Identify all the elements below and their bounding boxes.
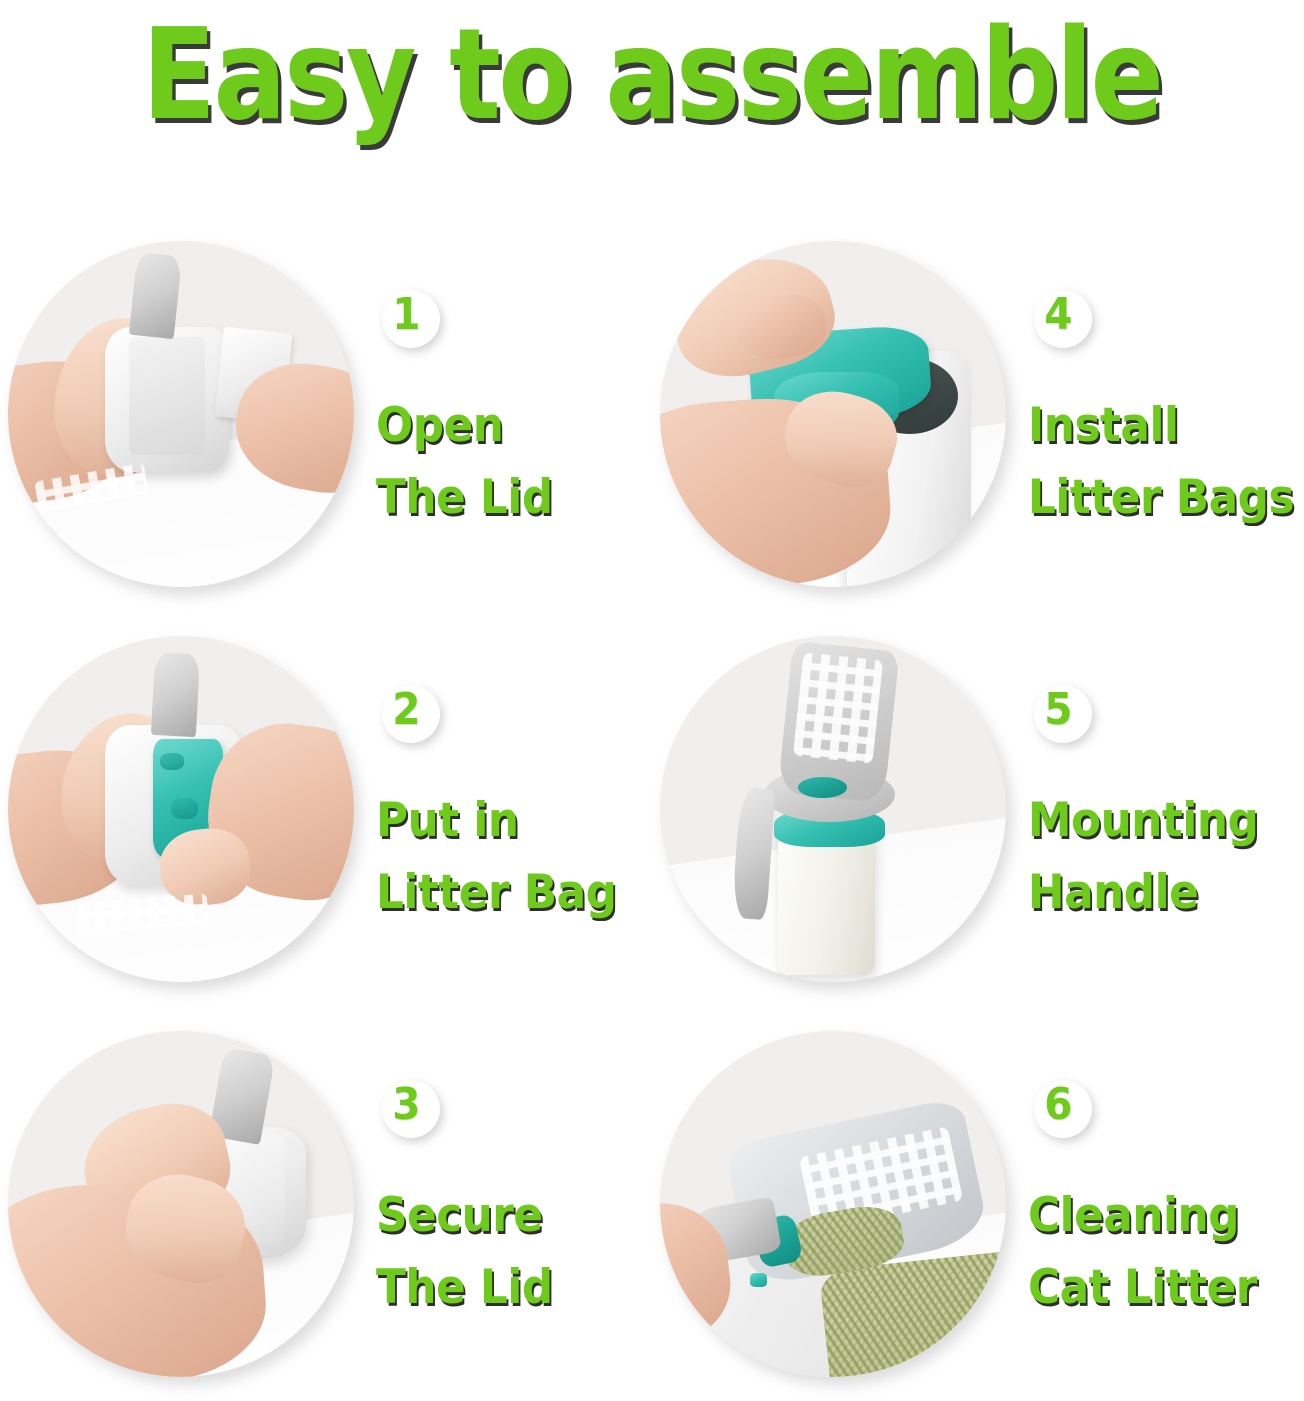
- step-photo-6: [660, 1031, 1006, 1377]
- step-label-3-line1: Secure: [376, 1188, 543, 1243]
- step-number-4: 4: [1044, 293, 1072, 337]
- step-number-2: 2: [392, 688, 420, 732]
- step-number-1: 1: [392, 293, 420, 337]
- step-number-badge-4: 4: [1034, 290, 1092, 348]
- step-number-badge-1: 1: [382, 290, 440, 348]
- step-caption-3: 3 Secure The Lid: [376, 1080, 652, 1327]
- step-caption-6: 6 Cleaning Cat Litter: [1028, 1080, 1304, 1327]
- step-label-6: Cleaning Cat Litter: [1028, 1180, 1257, 1323]
- step-label-5-line2: Handle: [1028, 857, 1258, 928]
- step-label-6-line2: Cat Litter: [1028, 1252, 1257, 1323]
- step-label-5-line1: Mounting: [1028, 793, 1258, 848]
- step-label-3: Secure The Lid: [376, 1180, 553, 1323]
- step-card-6: 6 Cleaning Cat Litter: [652, 1006, 1304, 1401]
- step-label-1-line1: Open: [376, 398, 503, 453]
- step-card-4: 4 Install Litter Bags: [652, 216, 1304, 611]
- step-label-1: Open The Lid: [376, 390, 553, 533]
- step-card-2: 2 Put in Litter Bag: [0, 611, 652, 1006]
- step-label-4-line2: Litter Bags: [1028, 462, 1294, 533]
- page-title-container: Easy to assemble: [0, 0, 1304, 150]
- step-number-3: 3: [392, 1083, 420, 1127]
- step-label-2: Put in Litter Bag: [376, 785, 617, 928]
- step-number-badge-5: 5: [1034, 685, 1092, 743]
- step-number-badge-2: 2: [382, 685, 440, 743]
- step-photo-5: [660, 636, 1006, 982]
- step-caption-2: 2 Put in Litter Bag: [376, 685, 652, 932]
- step-label-6-line1: Cleaning: [1028, 1188, 1239, 1243]
- photo-secure-the-lid-icon: [8, 1031, 354, 1377]
- photo-mounting-handle-icon: [660, 636, 1006, 982]
- step-label-4-line1: Install: [1028, 398, 1179, 453]
- step-photo-2: [8, 636, 354, 982]
- page-title: Easy to assemble: [142, 12, 1161, 138]
- step-label-1-line2: The Lid: [376, 462, 553, 533]
- step-photo-1: [8, 241, 354, 587]
- step-number-5: 5: [1044, 688, 1072, 732]
- step-caption-5: 5 Mounting Handle: [1028, 685, 1304, 932]
- step-label-3-line2: The Lid: [376, 1252, 553, 1323]
- steps-grid: 1 Open The Lid: [0, 216, 1304, 1401]
- photo-install-litter-bags-icon: [660, 241, 1006, 587]
- photo-open-the-lid-icon: [8, 241, 354, 587]
- step-number-badge-3: 3: [382, 1080, 440, 1138]
- step-card-1: 1 Open The Lid: [0, 216, 652, 611]
- step-card-3: 3 Secure The Lid: [0, 1006, 652, 1401]
- step-caption-1: 1 Open The Lid: [376, 290, 652, 537]
- step-photo-3: [8, 1031, 354, 1377]
- photo-put-in-litter-bag-icon: [8, 636, 354, 982]
- step-number-badge-6: 6: [1034, 1080, 1092, 1138]
- photo-cleaning-cat-litter-icon: [660, 1031, 1006, 1377]
- step-photo-4: [660, 241, 1006, 587]
- step-label-5: Mounting Handle: [1028, 785, 1258, 928]
- step-caption-4: 4 Install Litter Bags: [1028, 290, 1304, 537]
- step-label-4: Install Litter Bags: [1028, 390, 1294, 533]
- step-label-2-line2: Litter Bag: [376, 857, 617, 928]
- step-card-5: 5 Mounting Handle: [652, 611, 1304, 1006]
- step-label-2-line1: Put in: [376, 793, 519, 848]
- step-number-6: 6: [1044, 1083, 1072, 1127]
